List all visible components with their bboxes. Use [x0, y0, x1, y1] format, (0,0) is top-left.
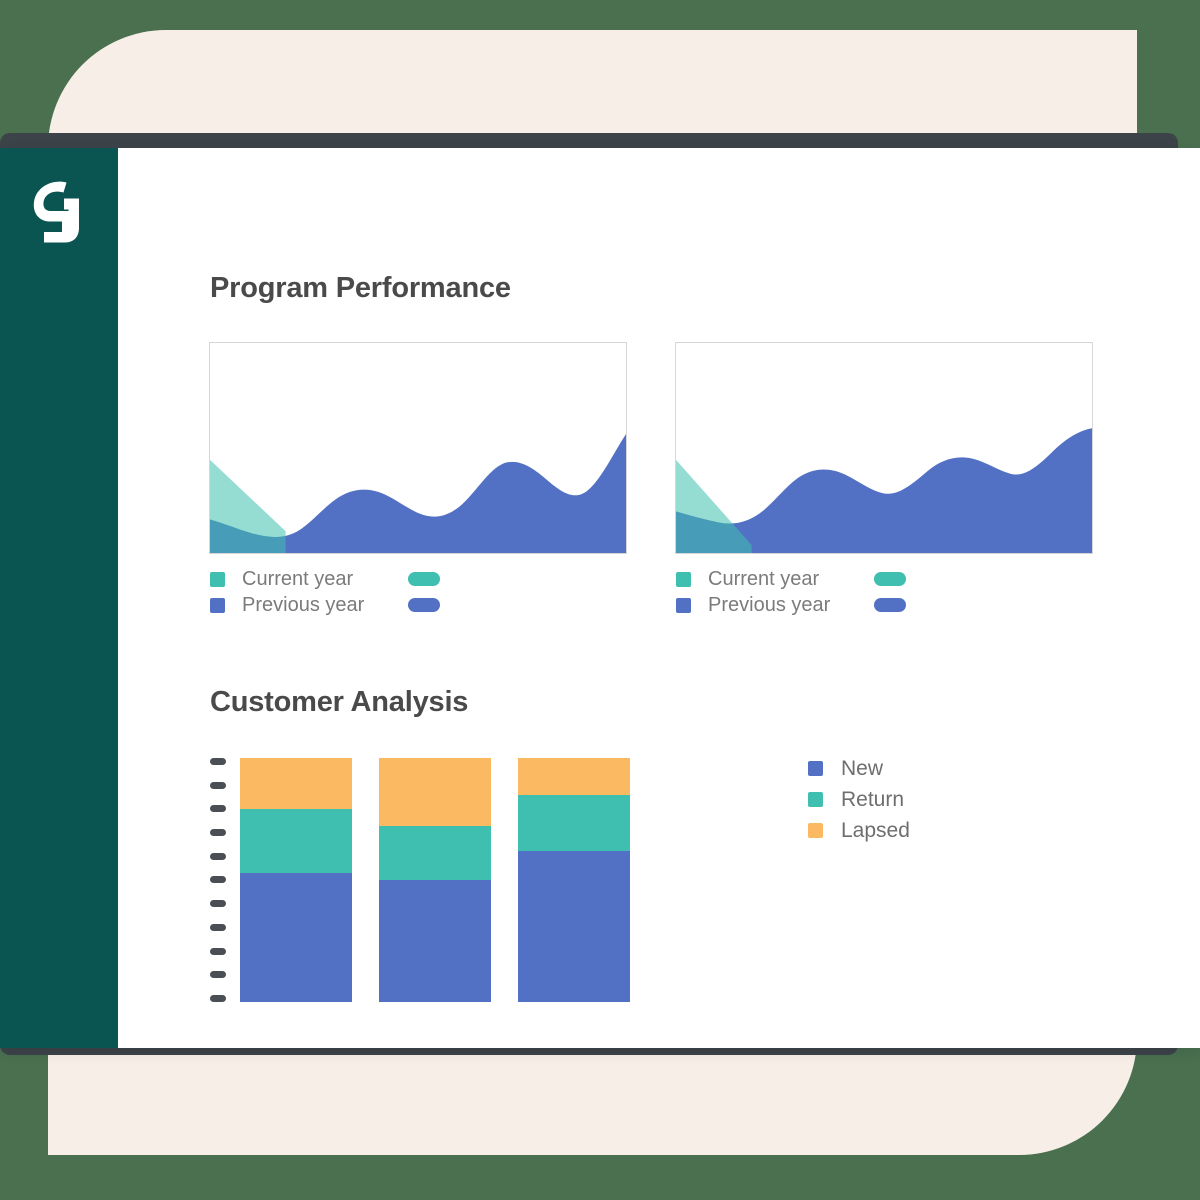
legend-swatch-lapsed [808, 823, 823, 838]
cj-monogram-logo-icon[interactable] [22, 176, 94, 248]
axis-tick [210, 876, 226, 883]
bar-segment-return [240, 809, 352, 872]
legend-swatch-return [808, 792, 823, 807]
bar-chart-y-axis [210, 758, 230, 1002]
axis-tick [210, 948, 226, 955]
program-performance-legend-1: Current year Previous year [210, 566, 440, 618]
axis-tick [210, 782, 226, 789]
legend-item-return[interactable]: Return [808, 784, 1008, 815]
axis-tick [210, 829, 226, 836]
legend-label-current-year: Current year [708, 568, 819, 591]
area-chart-svg-2 [676, 343, 1092, 553]
bar-segment-lapsed [240, 758, 352, 809]
bar-segment-lapsed [518, 758, 630, 795]
program-performance-chart-2 [675, 342, 1093, 554]
axis-tick [210, 900, 226, 907]
legend-pill-current-year [408, 572, 440, 586]
bar-segment-new [518, 851, 630, 1002]
bar-chart-bars [240, 758, 630, 1002]
bar-segment-lapsed [379, 758, 491, 826]
bar-segment-new [240, 873, 352, 1002]
legend-swatch-new [808, 761, 823, 776]
legend-label-return: Return [841, 788, 904, 812]
axis-tick [210, 971, 226, 978]
app-window: Program Performance Current year Previou… [0, 148, 1200, 1048]
legend-label-previous-year: Previous year [708, 594, 830, 617]
axis-tick [210, 805, 226, 812]
area-chart-svg-1 [210, 343, 626, 553]
legend-swatch-previous-year [210, 598, 225, 613]
area-current-year-2 [676, 460, 752, 553]
legend-pill-previous-year [874, 598, 906, 612]
legend-item-previous-year[interactable]: Previous year [676, 592, 906, 618]
legend-item-current-year[interactable]: Current year [210, 566, 440, 592]
legend-pill-current-year [874, 572, 906, 586]
legend-swatch-previous-year [676, 598, 691, 613]
legend-label-new: New [841, 757, 883, 781]
legend-item-current-year[interactable]: Current year [676, 566, 906, 592]
bar-column[interactable] [240, 758, 352, 1002]
legend-swatch-current-year [210, 572, 225, 587]
axis-tick [210, 995, 226, 1002]
customer-analysis-chart [210, 758, 630, 1002]
customer-analysis-title: Customer Analysis [210, 686, 468, 719]
legend-label-previous-year: Previous year [242, 594, 364, 617]
program-performance-legend-2: Current year Previous year [676, 566, 906, 618]
dashboard-content: Program Performance Current year Previou… [118, 148, 1200, 1048]
legend-label-lapsed: Lapsed [841, 819, 910, 843]
customer-analysis-legend: New Return Lapsed [808, 753, 1008, 846]
legend-label-current-year: Current year [242, 568, 353, 591]
program-performance-chart-1 [209, 342, 627, 554]
legend-pill-previous-year [408, 598, 440, 612]
legend-swatch-current-year [676, 572, 691, 587]
axis-tick [210, 924, 226, 931]
legend-item-lapsed[interactable]: Lapsed [808, 815, 1008, 846]
program-performance-title: Program Performance [210, 272, 511, 305]
bar-segment-return [379, 826, 491, 880]
legend-item-previous-year[interactable]: Previous year [210, 592, 440, 618]
bar-column[interactable] [379, 758, 491, 1002]
dashboard-illustration: Program Performance Current year Previou… [0, 0, 1200, 1200]
sidebar [0, 148, 118, 1048]
axis-tick [210, 758, 226, 765]
bar-segment-return [518, 795, 630, 851]
area-current-year-1 [210, 460, 286, 553]
bar-segment-new [379, 880, 491, 1002]
axis-tick [210, 853, 226, 860]
legend-item-new[interactable]: New [808, 753, 1008, 784]
bar-column[interactable] [518, 758, 630, 1002]
